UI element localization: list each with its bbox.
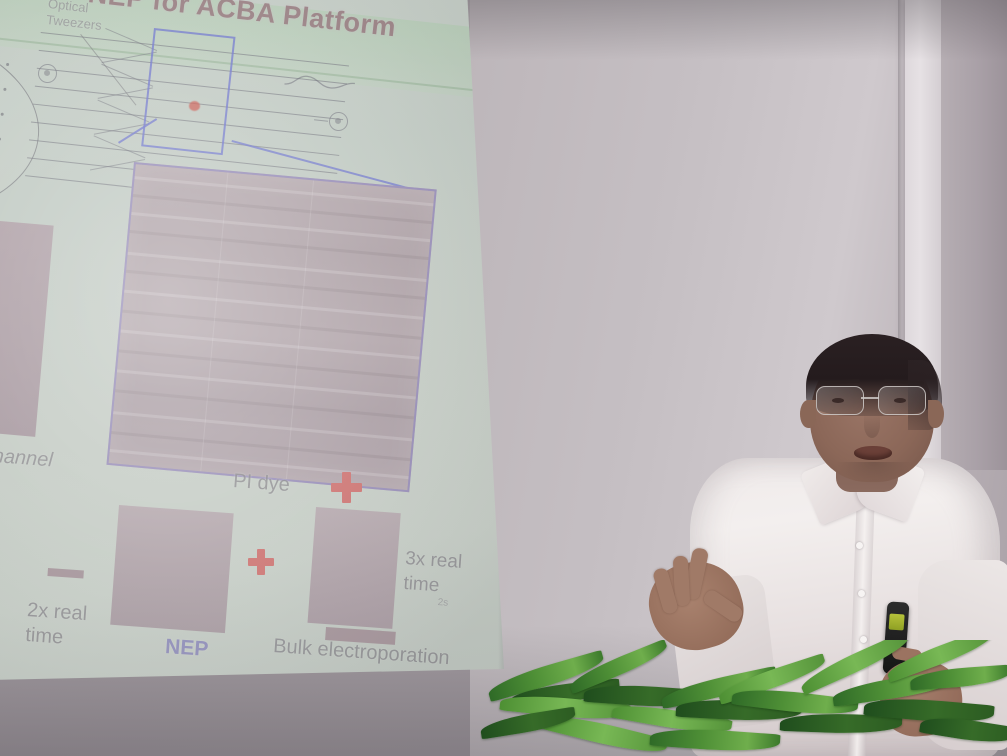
presenter-eye-left — [832, 398, 844, 403]
plant-leaf — [649, 725, 780, 754]
remote-sticker — [889, 614, 905, 631]
left-image-panel — [0, 218, 54, 437]
presenter-chin-shadow — [836, 462, 912, 484]
scale-note-label: 2s — [437, 597, 448, 609]
potted-plant — [480, 640, 1007, 756]
three-x-real-time-label: 3x real time — [403, 547, 463, 600]
optical-tweezers-label: Optical Tweezers — [45, 0, 104, 34]
shirt-button-1 — [856, 542, 863, 549]
eyeglass-bridge — [861, 397, 879, 399]
nep-label: NEP — [164, 635, 209, 662]
bulk-electroporation-label: Bulk electroporation — [272, 635, 450, 670]
presenter-nose — [864, 412, 880, 438]
photo-scene: NEP for ACBA Platform Optical Tweezers — [0, 0, 1007, 756]
presenter-ear-left — [800, 400, 816, 428]
presenter-eye-right — [894, 398, 906, 403]
plus-icon-middle — [248, 549, 274, 575]
shirt-button-2 — [858, 590, 865, 597]
scale-bar-left — [47, 568, 83, 578]
microscopy-video-frame — [106, 162, 436, 492]
microchannel-label: crochannel — [0, 442, 54, 472]
presenter-mouth — [854, 446, 892, 460]
bulk-electroporation-result-panel — [308, 507, 401, 629]
plus-icon-top — [331, 472, 362, 503]
red-cell-dot — [189, 101, 200, 111]
two-x-real-time-label: 2x real time — [25, 598, 88, 652]
projected-slide: NEP for ACBA Platform Optical Tweezers — [0, 0, 506, 680]
pi-dye-label: PI dye — [232, 470, 290, 497]
blue-highlight-rectangle — [141, 28, 235, 155]
nep-result-panel — [110, 505, 233, 633]
projection-screen: NEP for ACBA Platform Optical Tweezers — [0, 0, 506, 680]
